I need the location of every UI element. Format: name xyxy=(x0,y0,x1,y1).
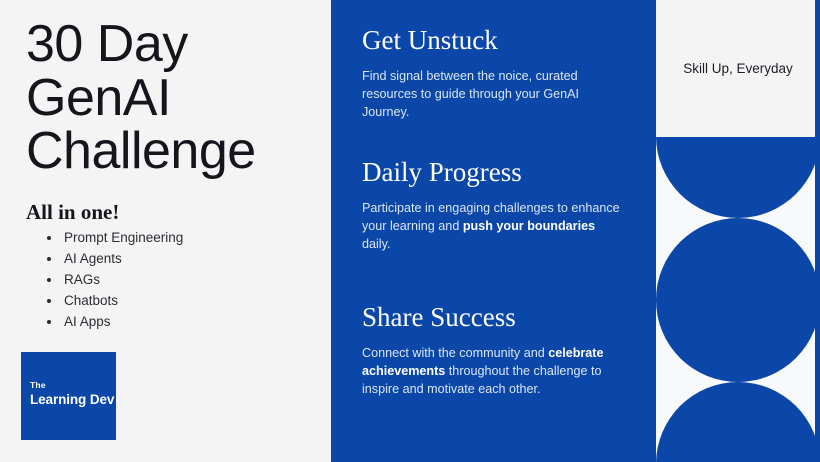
block-body: Participate in engaging challenges to en… xyxy=(362,199,622,253)
tagline-card: Skill Up, Everyday xyxy=(656,0,820,137)
circle-decoration xyxy=(656,137,820,462)
left-panel: 30 Day GenAI Challenge All in one! Promp… xyxy=(0,0,331,462)
circle-shape xyxy=(656,218,820,382)
circle-shape xyxy=(656,382,820,462)
content-block-share-success: Share Success Connect with the community… xyxy=(362,303,622,398)
right-edge-accent xyxy=(815,0,820,462)
page-title: 30 Day GenAI Challenge xyxy=(26,18,316,179)
tagline-text: Skill Up, Everyday xyxy=(683,59,793,79)
logo-line-name: Learning Dev xyxy=(30,392,114,407)
list-item: AI Apps xyxy=(62,312,183,333)
logo[interactable]: The Learning Dev xyxy=(21,352,116,440)
block-heading: Share Success xyxy=(362,303,622,333)
subtitle: All in one! xyxy=(26,200,119,225)
list-item: Chatbots xyxy=(62,291,183,312)
content-block-get-unstuck: Get Unstuck Find signal between the noic… xyxy=(362,26,622,121)
center-panel: Get Unstuck Find signal between the noic… xyxy=(331,0,656,462)
feature-list: Prompt Engineering AI Agents RAGs Chatbo… xyxy=(44,228,183,333)
block-body: Find signal between the noice, curated r… xyxy=(362,67,622,121)
block-heading: Daily Progress xyxy=(362,158,622,188)
circle-shape xyxy=(656,137,820,218)
list-item: Prompt Engineering xyxy=(62,228,183,249)
content-block-daily-progress: Daily Progress Participate in engaging c… xyxy=(362,158,622,253)
list-item: RAGs xyxy=(62,270,183,291)
logo-line-the: The xyxy=(30,380,46,390)
slide-canvas: 30 Day GenAI Challenge All in one! Promp… xyxy=(0,0,820,462)
right-column: Skill Up, Everyday xyxy=(656,0,820,462)
block-heading: Get Unstuck xyxy=(362,26,622,56)
list-item: AI Agents xyxy=(62,249,183,270)
block-body: Connect with the community and celebrate… xyxy=(362,344,622,398)
